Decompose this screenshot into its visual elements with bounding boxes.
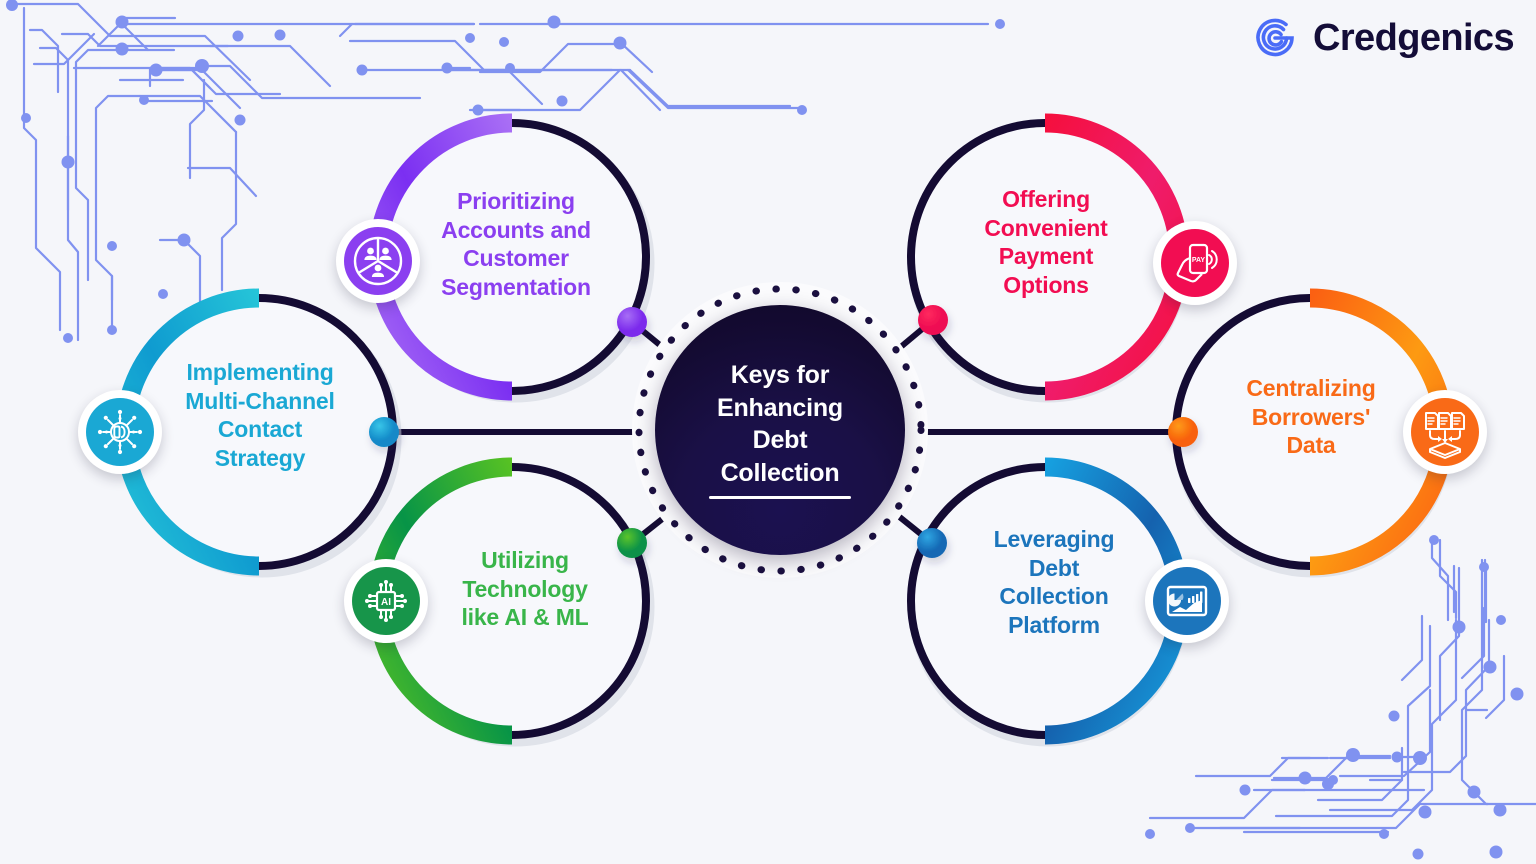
hub-line-2: Enhancing [709, 392, 851, 425]
analytics-dashboard-icon [1153, 567, 1221, 635]
node-label-technology-ai-ml: Utilizing Technology like AI & ML [412, 546, 638, 632]
label-line: Accounts and [398, 216, 634, 245]
hub-line-4: Collection [709, 457, 851, 490]
hub-underline [709, 496, 851, 499]
label-line: Centralizing [1202, 374, 1420, 403]
label-line: Borrowers' [1202, 403, 1420, 432]
badge-multi-channel-contact[interactable] [78, 390, 162, 474]
label-line: Payment [942, 242, 1150, 271]
svg-text:AI: AI [381, 597, 391, 608]
brand-name: Credgenics [1313, 17, 1514, 60]
label-line: Options [942, 271, 1150, 300]
customer-segmentation-icon [344, 227, 412, 295]
label-line: Prioritizing [398, 187, 634, 216]
label-line: Convenient [942, 214, 1150, 243]
data-consolidation-icon [1411, 398, 1479, 466]
hub-text: Keys for Enhancing Debt Collection [709, 359, 851, 501]
brand-logo[interactable]: Credgenics [1249, 12, 1514, 64]
ai-chip-icon: AI [352, 567, 420, 635]
infographic-canvas: Credgenics Keys for Enhancing Debt Colle… [0, 0, 1536, 864]
node-label-centralizing-data: Centralizing Borrowers' Data [1202, 374, 1420, 460]
node-dot-debt-collection-platform[interactable] [917, 528, 947, 558]
badge-debt-collection-platform[interactable] [1145, 559, 1229, 643]
hub-line-1: Keys for [709, 359, 851, 392]
label-line: Data [1202, 431, 1420, 460]
node-label-debt-collection-platform: Leveraging Debt Collection Platform [948, 525, 1160, 639]
label-line: Debt [948, 554, 1160, 583]
label-line: Leveraging [948, 525, 1160, 554]
label-line: Platform [948, 611, 1160, 640]
node-dot-prioritizing-accounts[interactable] [617, 307, 647, 337]
label-line: Segmentation [398, 273, 634, 302]
label-line: Utilizing [412, 546, 638, 575]
badge-technology-ai-ml[interactable]: AI [344, 559, 428, 643]
label-line: Collection [948, 582, 1160, 611]
label-line: Strategy [149, 444, 371, 473]
node-dot-multi-channel-contact[interactable] [369, 417, 399, 447]
badge-convenient-payment[interactable]: PAY [1153, 221, 1237, 305]
node-dot-centralizing-data[interactable] [1168, 417, 1198, 447]
badge-centralizing-data[interactable] [1403, 390, 1487, 474]
label-line: Technology [412, 575, 638, 604]
credgenics-spiral-g-logo-icon [1249, 12, 1301, 64]
label-line: Implementing [149, 358, 371, 387]
mobile-payment-icon: PAY [1161, 229, 1229, 297]
node-dot-convenient-payment[interactable] [918, 305, 948, 335]
label-line: Contact [149, 415, 371, 444]
node-label-convenient-payment: Offering Convenient Payment Options [942, 185, 1150, 299]
badge-prioritizing-accounts[interactable] [336, 219, 420, 303]
node-label-prioritizing-accounts: Prioritizing Accounts and Customer Segme… [398, 187, 634, 301]
node-label-multi-channel-contact: Implementing Multi-Channel Contact Strat… [149, 358, 371, 472]
label-line: Customer [398, 244, 634, 273]
hub-center[interactable]: Keys for Enhancing Debt Collection [655, 305, 905, 555]
contact-network-icon [86, 398, 154, 466]
label-line: Offering [942, 185, 1150, 214]
label-line: like AI & ML [412, 603, 638, 632]
label-line: Multi-Channel [149, 387, 371, 416]
hub-line-3: Debt [709, 424, 851, 457]
svg-text:PAY: PAY [1192, 257, 1206, 264]
